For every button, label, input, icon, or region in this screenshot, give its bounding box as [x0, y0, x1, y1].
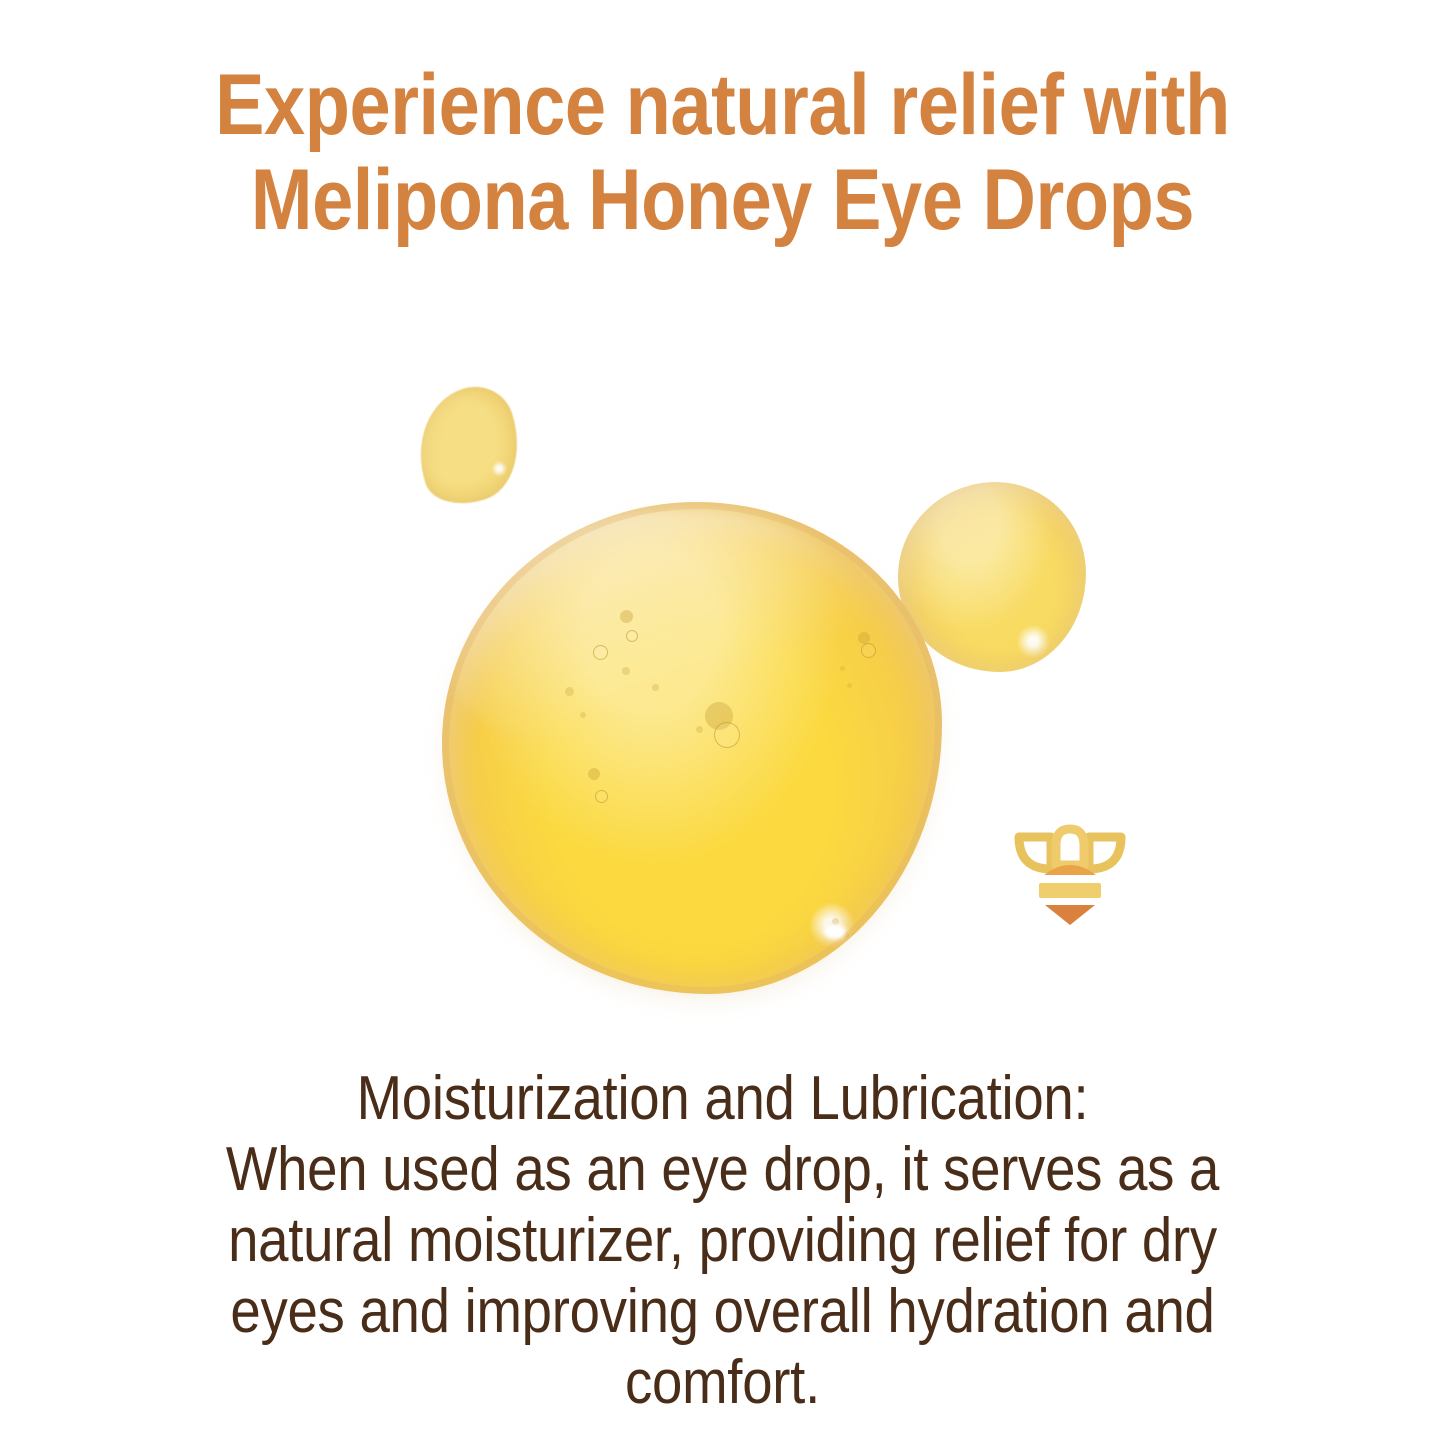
- poster-canvas: Experience natural relief with Melipona …: [0, 0, 1445, 1445]
- bee-icon: [1013, 817, 1127, 925]
- bee-left-wing-icon: [1019, 837, 1051, 869]
- page-title: Experience natural relief with Melipona …: [101, 58, 1344, 248]
- large-honey-droplet: [442, 502, 942, 994]
- small-honey-droplet: [401, 377, 535, 516]
- bee-right-wing-icon: [1089, 837, 1121, 869]
- body-paragraph: Moisturization and Lubrication: When use…: [87, 1063, 1359, 1418]
- honey-droplets-artwork: [0, 330, 1445, 1030]
- bee-stripe-icon: [1039, 883, 1101, 898]
- round-honey-droplet: [898, 482, 1086, 672]
- bee-head-icon: [1056, 829, 1084, 865]
- bee-abdomen-icon: [1045, 905, 1095, 925]
